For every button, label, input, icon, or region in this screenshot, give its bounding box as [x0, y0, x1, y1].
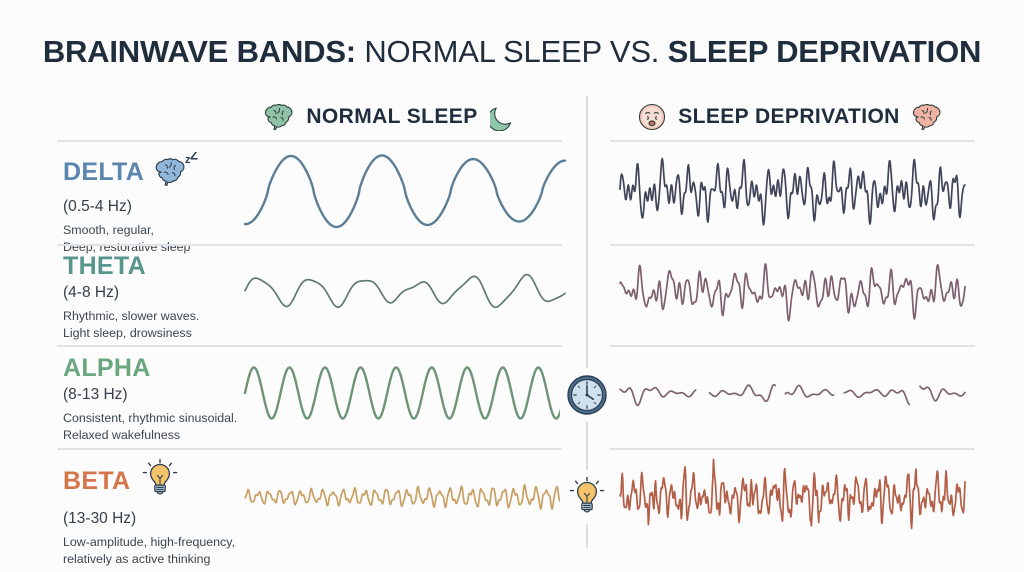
band-name: DELTA [63, 160, 144, 185]
row-divider-left [57, 345, 562, 347]
row-divider-left [57, 448, 562, 450]
band-description-line-2: Light sleep, drowsiness [63, 325, 278, 343]
column-header-sleep-deprivation: SLEEP DEPRIVATION [600, 98, 980, 136]
waveform-beta-deprived [620, 462, 965, 532]
page-title: BRAINWAVE BANDS: NORMAL SLEEP VS. SLEEP … [0, 34, 1024, 70]
waveform-alpha-deprived [620, 360, 965, 426]
infographic-canvas: BRAINWAVE BANDS: NORMAL SLEEP VS. SLEEP … [0, 0, 1024, 572]
title-part-3: SLEEP DEPRIVATION [668, 34, 982, 69]
brain-icon [264, 104, 294, 130]
row-divider-right [610, 244, 975, 246]
waveform-delta-deprived [620, 152, 965, 230]
band-name: THETA [63, 254, 146, 279]
waveform-alpha-normal [245, 360, 565, 426]
row-divider-right [610, 448, 975, 450]
band-description-line-1: Low-amplitude, high-frequency, [63, 534, 278, 552]
svg-text:Z: Z [190, 152, 198, 163]
band-description-line-2: Relaxed wakefulness [63, 427, 278, 445]
band-name: BETA [63, 469, 130, 494]
crescent-moon-icon [490, 103, 516, 131]
tired-face-icon [638, 103, 666, 131]
waveform-delta-normal [245, 152, 565, 230]
lightbulb-icon [567, 476, 607, 518]
row-divider-right [610, 345, 975, 347]
clock-icon [565, 373, 609, 417]
sleeping-brain-icon: z Z [154, 152, 200, 193]
title-part-1: BRAINWAVE BANDS: [43, 34, 356, 69]
band-name: ALPHA [63, 356, 151, 381]
band-description: Low-amplitude, high-frequency,relatively… [63, 534, 278, 569]
band-description-line-2: relatively as active thinking [63, 551, 278, 569]
lightbulb-icon [140, 458, 180, 505]
title-part-2: NORMAL SLEEP VS. [356, 34, 668, 69]
column-header-normal-sleep-label: NORMAL SLEEP [306, 105, 477, 129]
row-divider-right [610, 140, 975, 142]
waveform-theta-deprived [620, 258, 965, 324]
brain-icon [912, 104, 942, 130]
row-divider-left [57, 140, 562, 142]
lightbulb-icon [140, 458, 180, 500]
sleeping-brain-icon: z Z [154, 152, 200, 188]
waveform-beta-normal [245, 462, 565, 532]
lightbulb-icon [560, 470, 614, 524]
column-header-sleep-deprivation-label: SLEEP DEPRIVATION [678, 105, 900, 129]
row-divider-left [57, 244, 562, 246]
waveform-theta-normal [245, 258, 565, 324]
clock-icon [560, 368, 614, 422]
column-header-normal-sleep: NORMAL SLEEP [200, 98, 580, 136]
